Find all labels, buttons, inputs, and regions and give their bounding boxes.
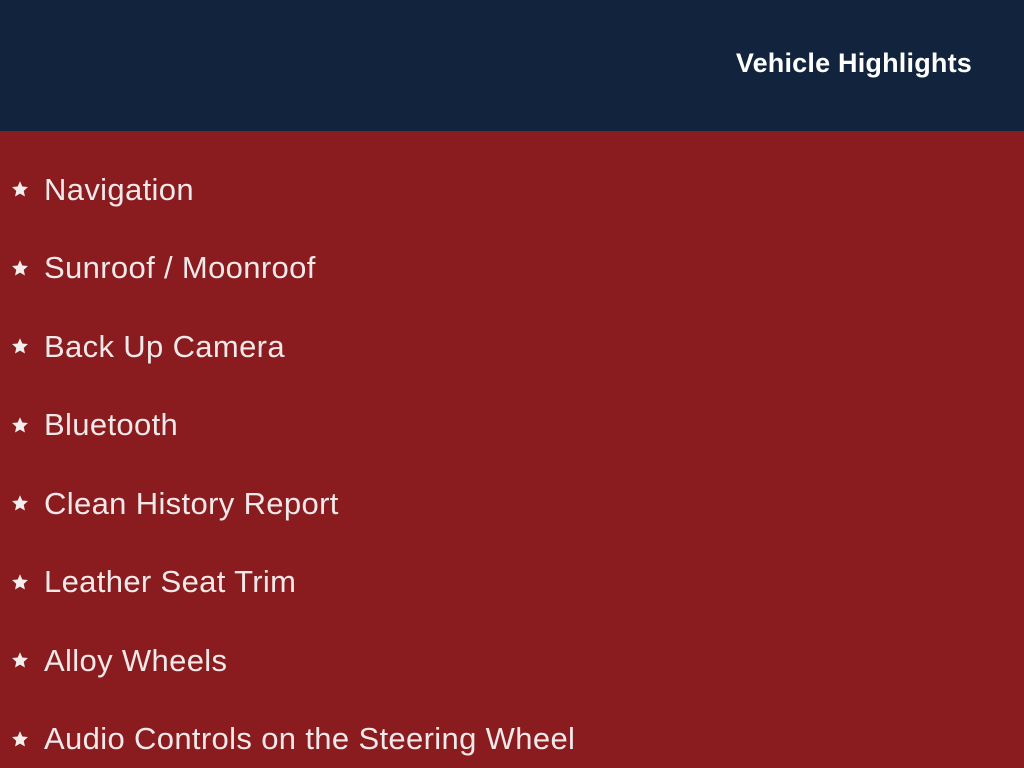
list-item: Bluetooth — [0, 386, 1024, 465]
list-item: Alloy Wheels — [0, 621, 1024, 700]
list-item-label: Alloy Wheels — [44, 645, 227, 676]
list-item-label: Navigation — [44, 174, 194, 205]
slide-body: Navigation Sunroof / Moonroof Back Up Ca… — [0, 131, 1024, 768]
list-item: Navigation — [0, 150, 1024, 229]
list-item: Sunroof / Moonroof — [0, 229, 1024, 308]
list-item-label: Audio Controls on the Steering Wheel — [44, 723, 575, 754]
star-icon — [11, 494, 29, 512]
star-icon — [11, 573, 29, 591]
slide-header: Vehicle Highlights — [0, 0, 1024, 131]
list-item: Audio Controls on the Steering Wheel — [0, 700, 1024, 768]
list-item: Leather Seat Trim — [0, 543, 1024, 622]
list-item-label: Bluetooth — [44, 409, 178, 440]
star-icon — [11, 651, 29, 669]
star-icon — [11, 416, 29, 434]
star-icon — [11, 337, 29, 355]
star-icon — [11, 259, 29, 277]
page-title: Vehicle Highlights — [736, 50, 972, 77]
list-item: Back Up Camera — [0, 307, 1024, 386]
vehicle-highlights-slide: Vehicle Highlights Navigation Sunroof / … — [0, 0, 1024, 768]
list-item-label: Leather Seat Trim — [44, 566, 296, 597]
list-item-label: Sunroof / Moonroof — [44, 252, 316, 283]
list-item-label: Clean History Report — [44, 488, 339, 519]
list-item: Clean History Report — [0, 464, 1024, 543]
star-icon — [11, 180, 29, 198]
vehicle-highlights-list: Navigation Sunroof / Moonroof Back Up Ca… — [0, 150, 1024, 768]
list-item-label: Back Up Camera — [44, 331, 285, 362]
star-icon — [11, 730, 29, 748]
